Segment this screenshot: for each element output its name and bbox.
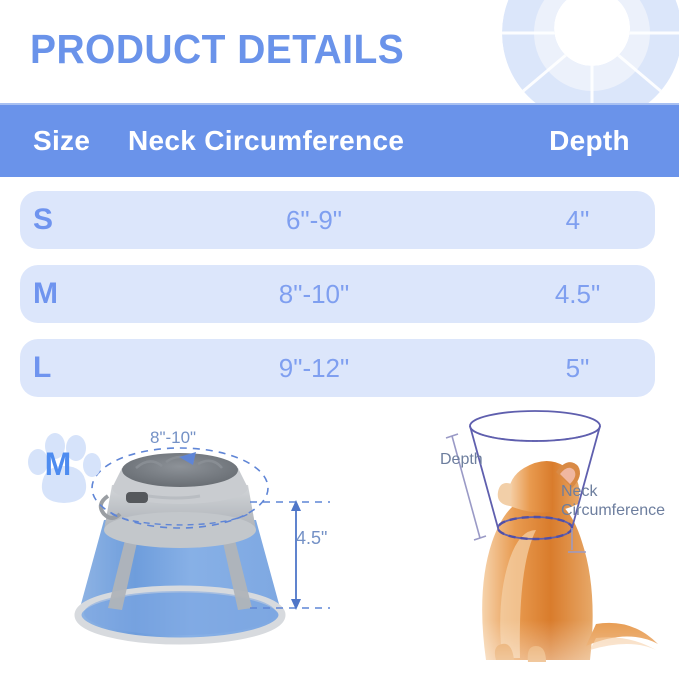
cell-depth: 5"	[500, 353, 655, 384]
badge-size-letter: M	[36, 448, 80, 480]
cat-illustration	[390, 410, 679, 679]
table-row: M 8"-10" 4.5"	[20, 265, 655, 323]
cell-size: M	[20, 277, 128, 311]
cell-depth: 4"	[500, 205, 655, 236]
cell-size: S	[20, 203, 128, 237]
illustration-area: M	[0, 410, 679, 679]
cone-top-measurement-label: 8"-10"	[150, 428, 196, 448]
cat-depth-label: Depth	[440, 450, 483, 469]
cat-neck-label-line2: Circumference	[561, 502, 665, 519]
size-table: Size Neck Circumference Depth S 6"-9" 4"…	[0, 105, 679, 413]
page-title: PRODUCT DETAILS	[30, 24, 404, 74]
cell-neck: 6"-9"	[128, 205, 500, 236]
cat-figure	[390, 410, 679, 679]
table-row: S 6"-9" 4"	[20, 191, 655, 249]
cell-size: L	[20, 351, 128, 385]
cat-neck-label-line1: Neck	[561, 483, 597, 500]
cell-depth: 4.5"	[500, 279, 655, 310]
table-header-row: Size Neck Circumference Depth	[0, 105, 679, 177]
table-row: L 9"-12" 5"	[20, 339, 655, 397]
table-body: S 6"-9" 4" M 8"-10" 4.5" L 9"-12" 5"	[0, 177, 679, 397]
column-header-depth: Depth	[500, 125, 679, 157]
cell-neck: 8"-10"	[128, 279, 500, 310]
cone-depth-measurement-label: 4.5"	[296, 528, 327, 549]
cat-neck-label: Neck Circumference	[561, 482, 665, 520]
column-header-neck: Neck Circumference	[128, 125, 500, 157]
cell-neck: 9"-12"	[128, 353, 500, 384]
column-header-size: Size	[0, 125, 128, 157]
